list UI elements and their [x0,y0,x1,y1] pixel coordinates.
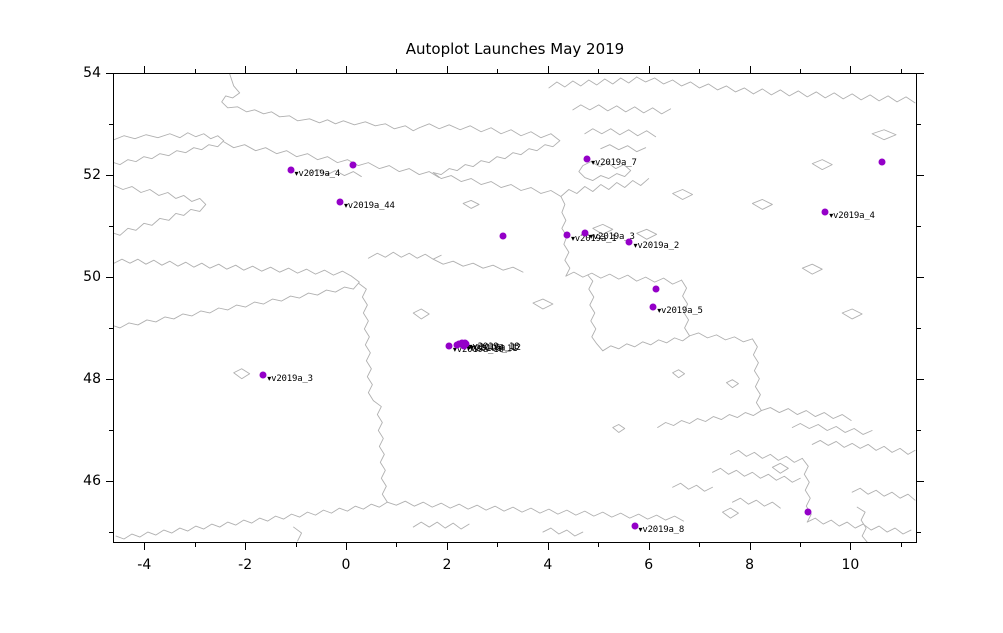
y-axis-major-tick [106,277,113,278]
data-point-marker [563,231,570,238]
x-axis-major-tick [750,543,751,550]
x-axis-minor-tick [396,543,397,547]
x-axis-major-tick [850,543,851,550]
data-point-marker [336,198,343,205]
x-axis-tick-label: 4 [543,557,552,573]
y-axis-minor-tick [109,124,113,125]
x-axis-major-tick [245,543,246,550]
x-axis-minor-tick [800,543,801,547]
y-axis-major-tick [917,481,924,482]
x-axis-tick-label: -4 [137,557,151,573]
y-axis-major-tick [106,379,113,380]
y-axis-minor-tick [917,226,921,227]
data-point-marker [650,303,657,310]
x-axis-tick-label: 2 [442,557,451,573]
x-axis-major-tick [346,66,347,73]
x-axis-major-tick [144,543,145,550]
data-point-label: ▾v2019a_2 [633,241,679,251]
data-point-label: ▾v2019a_44 [344,201,395,211]
x-axis-tick-label: -2 [238,557,252,573]
x-axis-tick-label: 0 [342,557,351,573]
x-axis-minor-tick [195,543,196,547]
x-axis-tick-label: 10 [841,557,859,573]
x-axis-minor-tick [497,69,498,73]
data-point-label: ▾v2019a_8 [639,525,685,535]
x-axis-minor-tick [195,69,196,73]
x-axis-minor-tick [598,543,599,547]
data-point-marker [582,230,589,237]
y-axis-tick-label: 54 [83,65,101,81]
data-point-marker [878,158,885,165]
coastline-map [114,74,916,542]
y-axis-major-tick [106,481,113,482]
x-axis-minor-tick [598,69,599,73]
data-point-label: ▾v2019a_4 [829,211,875,221]
y-axis-major-tick [917,277,924,278]
data-point-marker [822,209,829,216]
y-axis-tick-label: 48 [83,371,101,387]
x-axis-minor-tick [901,543,902,547]
y-axis-major-tick [106,175,113,176]
x-axis-major-tick [548,66,549,73]
x-axis-major-tick [649,543,650,550]
data-point-marker [804,509,811,516]
y-axis-major-tick [106,73,113,74]
y-axis-major-tick [917,73,924,74]
data-point-label: ▾v2019a_5 [657,306,703,316]
x-axis-minor-tick [800,69,801,73]
y-axis-tick-label: 52 [83,167,101,183]
x-axis-tick-label: 8 [745,557,754,573]
x-axis-minor-tick [901,69,902,73]
x-axis-tick-label: 6 [644,557,653,573]
x-axis-minor-tick [296,543,297,547]
y-axis-major-tick [917,379,924,380]
data-point-label: ▾v2019a_3 [267,374,313,384]
data-point-marker [584,156,591,163]
x-axis-minor-tick [699,69,700,73]
y-axis-tick-label: 46 [83,473,101,489]
y-axis-minor-tick [917,532,921,533]
x-axis-minor-tick [396,69,397,73]
figure-canvas: Autoplot Launches May 2019 [0,0,1003,633]
data-point-marker [499,232,506,239]
data-point-marker [653,286,660,293]
y-axis-major-tick [917,175,924,176]
x-axis-major-tick [548,543,549,550]
y-axis-minor-tick [917,124,921,125]
data-point-marker [287,166,294,173]
data-point-marker [260,371,267,378]
x-axis-major-tick [750,66,751,73]
page-title: Autoplot Launches May 2019 [113,40,917,58]
y-axis-minor-tick [109,226,113,227]
x-axis-major-tick [144,66,145,73]
y-axis-tick-label: 50 [83,269,101,285]
x-axis-minor-tick [296,69,297,73]
y-axis-minor-tick [109,328,113,329]
x-axis-minor-tick [497,543,498,547]
y-axis-minor-tick [917,328,921,329]
y-axis-minor-tick [109,532,113,533]
x-axis-major-tick [346,543,347,550]
data-point-label: ▾v2019a_4 [295,169,341,179]
data-point-marker [445,343,452,350]
plot-area: ▾v2019a_4▾v2019a_44▾v2019a_3▾v2019a_7▾v2… [113,73,917,543]
data-point-marker [626,239,633,246]
data-point-marker [349,161,356,168]
data-point-marker [631,522,638,529]
x-axis-major-tick [850,66,851,73]
y-axis-minor-tick [917,430,921,431]
x-axis-major-tick [447,66,448,73]
x-axis-major-tick [245,66,246,73]
data-point-marker [453,342,460,349]
x-axis-minor-tick [699,543,700,547]
x-axis-major-tick [649,66,650,73]
y-axis-minor-tick [109,430,113,431]
data-point-label: ▾v2019a_7 [591,158,637,168]
x-axis-major-tick [447,543,448,550]
